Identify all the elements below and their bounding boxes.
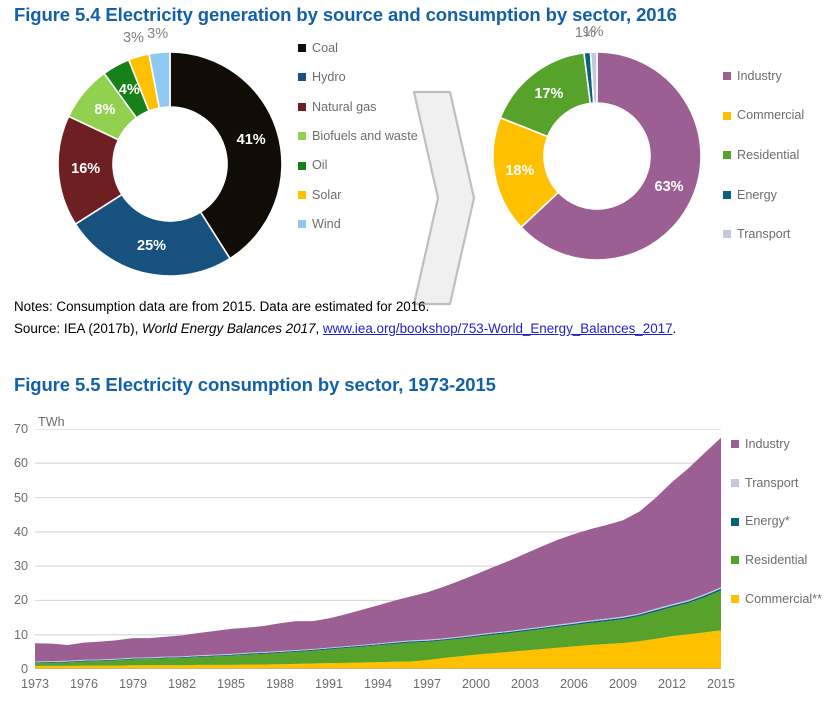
legend-item-label: Commercial	[737, 109, 804, 122]
legend-color-swatch	[731, 440, 739, 448]
slice-percent-label: 18%	[505, 163, 534, 178]
legend-item-label: Residential	[737, 149, 799, 162]
x-axis-tick-label: 1973	[10, 678, 60, 691]
legend-item-label: Residential	[745, 554, 807, 567]
legend-color-swatch	[298, 73, 306, 81]
legend-color-swatch	[723, 112, 731, 120]
x-axis-tick-label: 2003	[500, 678, 550, 691]
figure-5-5-chart: TWh 010203040506070 19731976197919821985…	[0, 404, 837, 709]
y-axis-tick-label: 0	[0, 663, 28, 676]
legend-color-swatch	[298, 191, 306, 199]
legend-item-label: Transport	[737, 228, 790, 241]
source-period: .	[673, 321, 677, 336]
y-axis-unit-label: TWh	[38, 416, 65, 429]
x-axis-tick-label: 2015	[696, 678, 746, 691]
consumption-by-sector-donut: 63%18%17%1%1%	[490, 49, 705, 264]
legend-item-label: Industry	[745, 438, 790, 451]
slice-percent-label: 3%	[147, 26, 168, 41]
figure-5-4-charts: 41%25%16%8%4%3%3% 63%18%17%1%1% CoalHydr…	[0, 34, 837, 296]
y-axis-tick-label: 30	[0, 560, 28, 573]
figure-5-4-source: Source: IEA (2017b), World Energy Balanc…	[14, 322, 676, 335]
x-axis-tick-label: 2000	[451, 678, 501, 691]
source-publication-title: World Energy Balances 2017	[142, 321, 315, 336]
legend-item-label: Solar	[312, 189, 341, 202]
x-axis-tick-label: 1991	[304, 678, 354, 691]
slice-percent-label: 1%	[583, 25, 604, 40]
slice-percent-label: 3%	[123, 31, 144, 46]
x-axis-tick-label: 1979	[108, 678, 158, 691]
legend-color-swatch	[731, 479, 739, 487]
legend-item-label: Coal	[312, 42, 338, 55]
legend-item-label: Industry	[737, 70, 782, 83]
y-axis-tick-label: 40	[0, 526, 28, 539]
y-axis-tick-label: 20	[0, 594, 28, 607]
figure-5-5-title: Figure 5.5 Electricity consumption by se…	[14, 374, 496, 396]
y-axis-tick-label: 60	[0, 457, 28, 470]
y-axis-tick-label: 50	[0, 492, 28, 505]
x-axis-tick-label: 2009	[598, 678, 648, 691]
slice-percent-label: 17%	[534, 87, 563, 102]
y-axis-tick-label: 10	[0, 629, 28, 642]
legend-item-label: Oil	[312, 159, 327, 172]
legend-color-swatch	[723, 191, 731, 199]
slice-percent-label: 41%	[237, 133, 266, 148]
chevron-right-arrow-icon	[408, 88, 480, 308]
legend-color-swatch	[298, 132, 306, 140]
x-axis-tick-label: 1997	[402, 678, 452, 691]
legend-color-swatch	[731, 595, 739, 603]
legend-color-swatch	[298, 162, 306, 170]
slice-percent-label: 8%	[94, 103, 115, 118]
legend-item-label: Natural gas	[312, 101, 376, 114]
slice-percent-label: 25%	[137, 239, 166, 254]
source-separator: ,	[315, 321, 322, 336]
legend-color-swatch	[723, 151, 731, 159]
slice-percent-label: 16%	[71, 162, 100, 177]
x-axis-tick-label: 1982	[157, 678, 207, 691]
legend-color-swatch	[723, 230, 731, 238]
legend-color-swatch	[298, 220, 306, 228]
legend-item-label: Biofuels and waste	[312, 130, 418, 143]
y-axis-tick-label: 70	[0, 423, 28, 436]
stacked-area-svg	[35, 429, 721, 669]
x-axis-tick-label: 1985	[206, 678, 256, 691]
generation-by-source-donut: 41%25%16%8%4%3%3%	[55, 49, 285, 279]
legend-color-swatch	[298, 103, 306, 111]
legend-color-swatch	[731, 518, 739, 526]
legend-item-label: Commercial**	[745, 593, 822, 606]
legend-item-label: Transport	[745, 477, 798, 490]
x-axis-tick-label: 2012	[647, 678, 697, 691]
legend-item-label: Hydro	[312, 71, 346, 84]
legend-item-label: Wind	[312, 218, 341, 231]
figures-page: Figure 5.4 Electricity generation by sou…	[0, 0, 837, 709]
legend-color-swatch	[723, 72, 731, 80]
x-axis-tick-label: 1988	[255, 678, 305, 691]
source-url-link[interactable]: www.iea.org/bookshop/753-World_Energy_Ba…	[323, 321, 673, 336]
legend-item-label: Energy*	[745, 515, 790, 528]
x-axis-tick-label: 1976	[59, 678, 109, 691]
donut-chart-svg	[490, 49, 705, 264]
slice-percent-label: 63%	[655, 180, 684, 195]
area-chart-plot	[35, 429, 721, 669]
figure-5-4-notes: Notes: Consumption data are from 2015. D…	[14, 300, 429, 313]
x-axis-tick-label: 1994	[353, 678, 403, 691]
source-prefix: Source: IEA (2017b),	[14, 321, 142, 336]
legend-item-label: Energy	[737, 189, 777, 202]
legend-color-swatch	[731, 556, 739, 564]
figure-5-4-title: Figure 5.4 Electricity generation by sou…	[14, 4, 677, 26]
legend-color-swatch	[298, 44, 306, 52]
x-axis-tick-label: 2006	[549, 678, 599, 691]
slice-percent-label: 4%	[119, 83, 140, 98]
